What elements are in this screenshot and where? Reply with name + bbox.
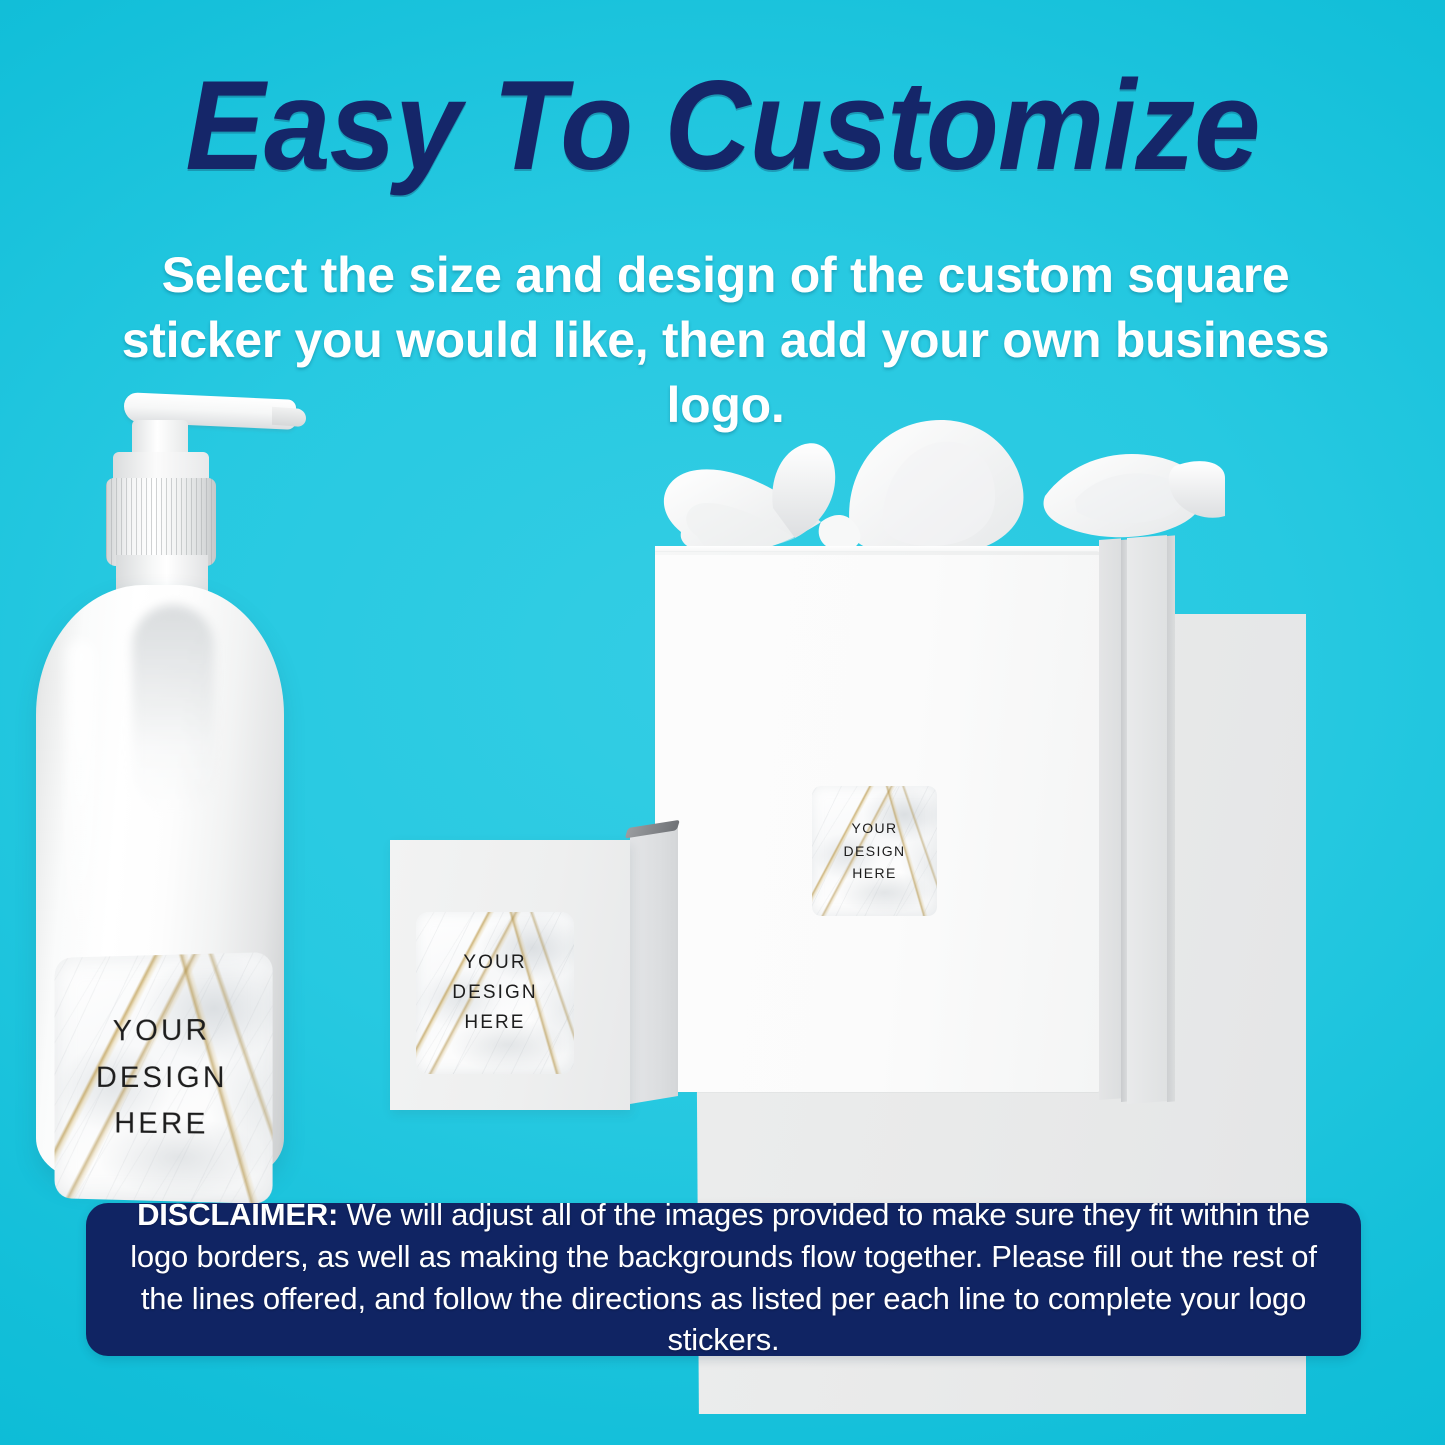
sticker-line-3: HERE — [114, 1101, 208, 1149]
gift-box-side-panel-a — [1099, 538, 1121, 1100]
gift-box-side-panel-b — [1127, 535, 1167, 1104]
sticker-line-3: HERE — [464, 1008, 525, 1038]
gift-box-lid-seam — [655, 552, 1099, 555]
sticker-preview-large[interactable]: YOUR DESIGN HERE — [55, 952, 273, 1204]
sticker-preview-small[interactable]: YOUR DESIGN HERE — [812, 786, 937, 916]
sticker-line-2: DESIGN — [452, 978, 537, 1008]
small-gift-box: YOUR DESIGN HERE — [390, 840, 660, 1130]
sticker-line-3: HERE — [852, 862, 897, 885]
sticker-preview-medium[interactable]: YOUR DESIGN HERE — [416, 912, 574, 1074]
pump-ribbed-collar — [106, 478, 216, 566]
product-scene: YOUR DESIGN HERE YOUR DESIGN HERE — [0, 370, 1445, 1220]
small-box-side-face — [630, 824, 678, 1104]
sticker-line-1: YOUR — [463, 948, 526, 978]
pump-lever-tip — [272, 407, 306, 427]
bottle-highlight-primary — [132, 605, 214, 815]
sticker-line-2: DESIGN — [843, 840, 905, 863]
bottle-highlight-secondary — [66, 640, 96, 970]
disclaimer-label: DISCLAIMER: — [137, 1197, 338, 1232]
disclaimer-box: DISCLAIMER: We will adjust all of the im… — [86, 1203, 1361, 1356]
large-gift-box: YOUR DESIGN HERE — [655, 470, 1215, 1100]
poster-canvas: Easy To Customize Select the size and de… — [0, 0, 1445, 1445]
pump-bottle: YOUR DESIGN HERE — [20, 390, 320, 1180]
sticker-line-1: YOUR — [851, 817, 897, 840]
disclaimer-text: DISCLAIMER: We will adjust all of the im… — [120, 1194, 1327, 1360]
sticker-line-1: YOUR — [113, 1007, 211, 1055]
gift-box-side-panel-c — [1167, 535, 1175, 1102]
sticker-line-2: DESIGN — [96, 1054, 228, 1101]
page-title: Easy To Customize — [43, 62, 1401, 189]
